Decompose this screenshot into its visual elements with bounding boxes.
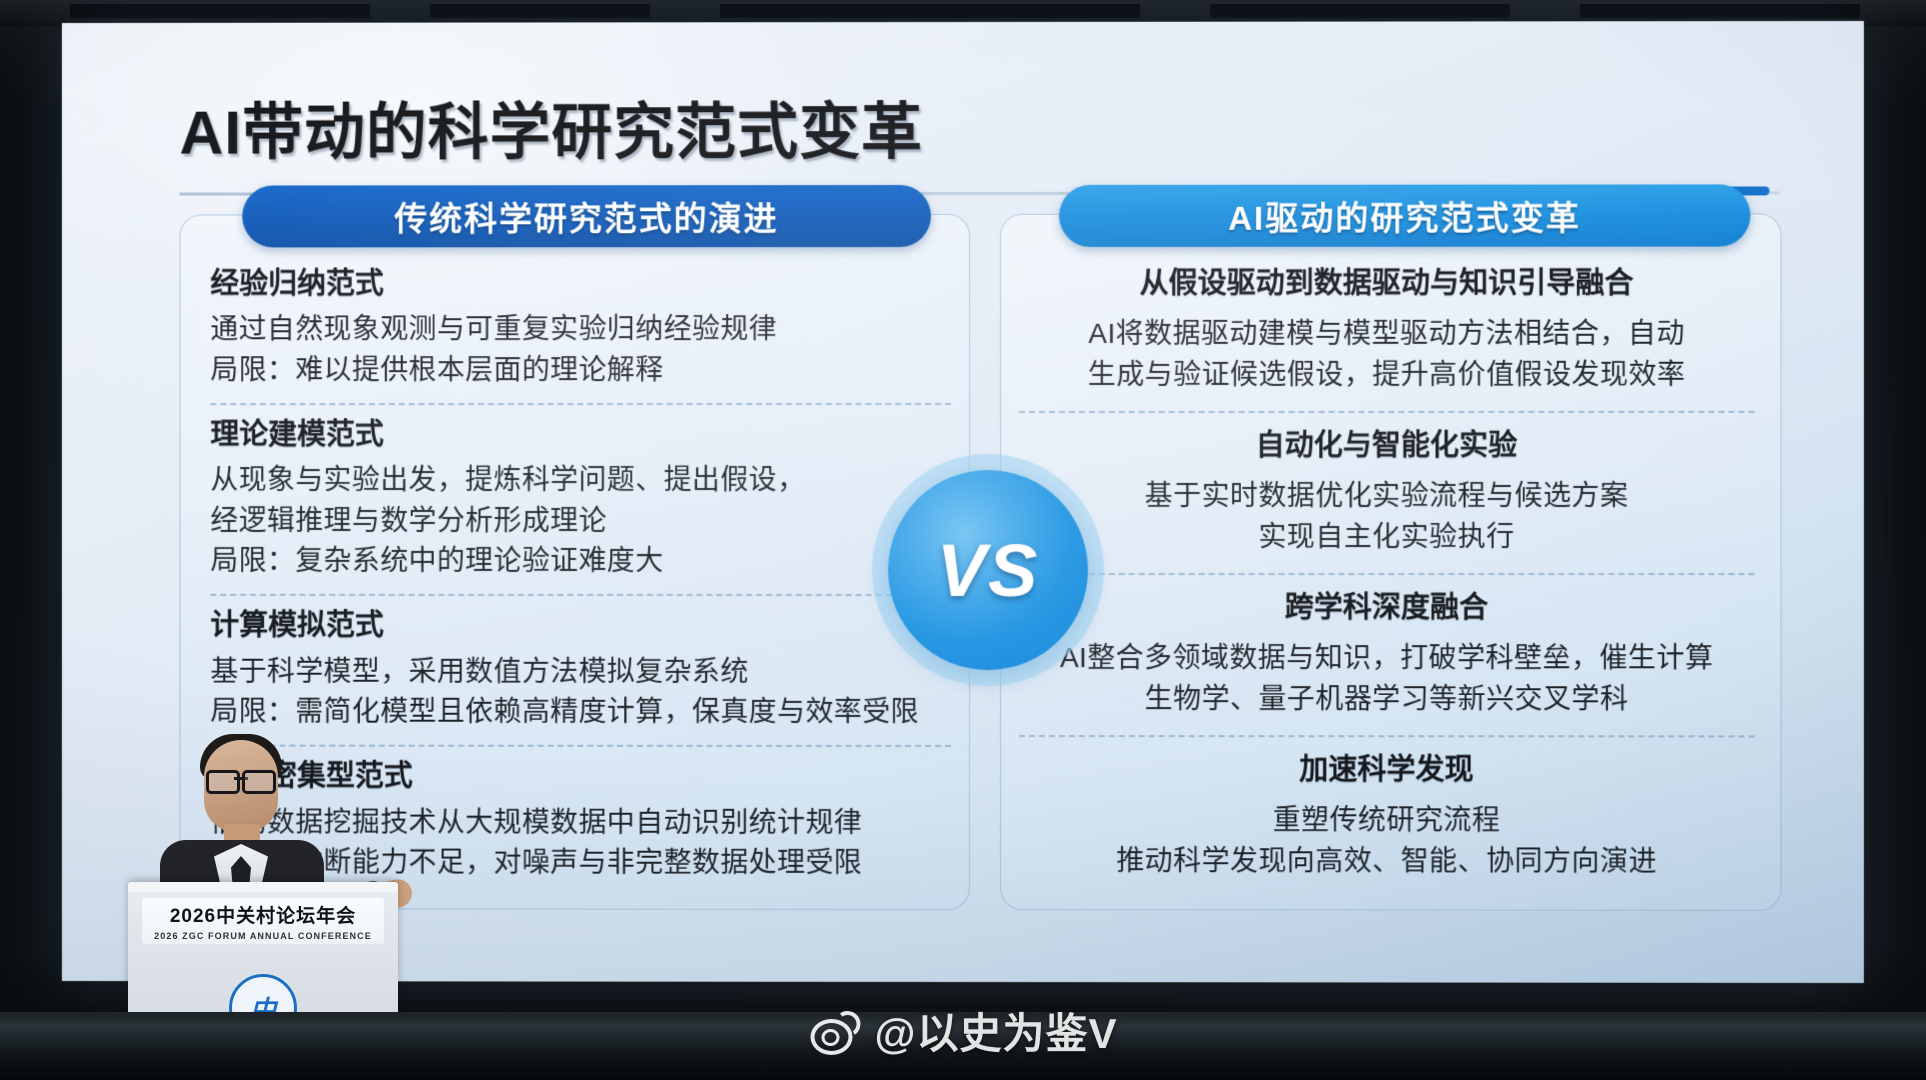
paradigm-line: 重塑传统研究流程 — [1019, 800, 1754, 841]
paradigm-section: 经验归纳范式通过自然现象观测与可重复实验归纳经验规律局限：难以提供根本层面的理论… — [210, 267, 951, 390]
slide-title: AI带动的科学研究范式变革 — [179, 82, 923, 172]
paradigm-heading: 经验归纳范式 — [210, 267, 951, 303]
paradigm-section: 加速科学发现重塑传统研究流程推动科学发现向高效、智能、协同方向演进 — [1019, 735, 1754, 882]
paradigm-line: 局限：复杂系统中的理论验证难度大 — [210, 541, 951, 581]
podium-title-cn: 2026中关村论坛年会 — [170, 901, 356, 928]
vs-label: VS — [937, 527, 1040, 612]
paradigm-line: 基于实时数据优化实验流程与候选方案 — [1019, 476, 1754, 516]
paradigm-line: 局限：需简化模型且依赖高精度计算，保真度与效率受限 — [210, 692, 951, 733]
paradigm-heading: 加速科学发现 — [1019, 753, 1754, 789]
paradigm-line: 推动科学发现向高效、智能、协同方向演进 — [1019, 841, 1754, 882]
ceiling-slot — [70, 4, 370, 18]
paradigm-line: 局限：难以提供根本层面的理论解释 — [210, 350, 951, 391]
paradigm-heading: 自动化与智能化实验 — [1019, 429, 1754, 465]
podium-nameplate: 2026中关村论坛年会 2026 ZGC FORUM ANNUAL CONFER… — [142, 898, 384, 944]
paradigm-heading: 理论建模范式 — [210, 418, 951, 453]
paradigm-heading: 跨学科深度融合 — [1019, 591, 1754, 627]
paradigm-line: 通过自然现象观测与可重复实验归纳经验规律 — [210, 309, 951, 350]
ceiling-slot — [430, 4, 650, 18]
panel-ai-driven-paradigms: AI驱动的研究范式变革 从假设驱动到数据驱动与知识引导融合AI将数据驱动建模与模… — [1000, 213, 1782, 910]
speaker-glasses-icon — [206, 770, 276, 788]
paradigm-line: 生物学、量子机器学习等新兴交叉学科 — [1019, 679, 1754, 720]
paradigm-section: 从假设驱动到数据驱动与知识引导融合AI将数据驱动建模与模型驱动方法相结合，自动生… — [1019, 267, 1754, 395]
paradigm-section: 理论建模范式从现象与实验出发，提炼科学问题、提出假设，经逻辑推理与数学分析形成理… — [210, 403, 951, 581]
paradigm-heading: 从假设驱动到数据驱动与知识引导融合 — [1019, 267, 1754, 303]
paradigm-line: 从现象与实验出发，提炼科学问题、提出假设， — [210, 460, 951, 500]
panel-left-header: 传统科学研究范式的演进 — [242, 185, 931, 247]
paradigm-line: 实现自主化实验执行 — [1019, 517, 1754, 557]
paradigm-line: 生成与验证候选假设，提升高价值假设发现效率 — [1019, 354, 1754, 395]
weibo-watermark: @以史为鉴V — [809, 1000, 1118, 1061]
vs-badge: VS — [888, 470, 1088, 670]
paradigm-line: AI将数据驱动建模与模型驱动方法相结合，自动 — [1019, 314, 1754, 355]
ceiling-slot — [720, 4, 1140, 18]
paradigm-section: 自动化与智能化实验基于实时数据优化实验流程与候选方案实现自主化实验执行 — [1019, 411, 1754, 557]
podium-title-en: 2026 ZGC FORUM ANNUAL CONFERENCE — [154, 931, 372, 941]
weibo-handle: @以史为鉴V — [875, 1000, 1118, 1061]
paradigm-line: 经逻辑推理与数学分析形成理论 — [210, 501, 951, 541]
weibo-icon — [809, 1011, 861, 1051]
paradigm-line: AI整合多领域数据与知识，打破学科壁垒，催生计算 — [1019, 638, 1754, 679]
panel-right-header: AI驱动的研究范式变革 — [1059, 184, 1750, 247]
ceiling-slot — [1580, 4, 1860, 18]
paradigm-heading: 计算模拟范式 — [210, 609, 951, 645]
panel-right-body: 从假设驱动到数据驱动与知识引导融合AI将数据驱动建模与模型驱动方法相结合，自动生… — [1001, 267, 1781, 882]
paradigm-section: 跨学科深度融合AI整合多领域数据与知识，打破学科壁垒，催生计算生物学、量子机器学… — [1019, 573, 1754, 719]
paradigm-line: 基于科学模型，采用数值方法模拟复杂系统 — [210, 651, 951, 692]
paradigm-section: 计算模拟范式基于科学模型，采用数值方法模拟复杂系统局限：需简化模型且依赖高精度计… — [210, 594, 951, 732]
ceiling-slot — [1210, 4, 1510, 18]
podium-top-edge — [128, 882, 398, 892]
